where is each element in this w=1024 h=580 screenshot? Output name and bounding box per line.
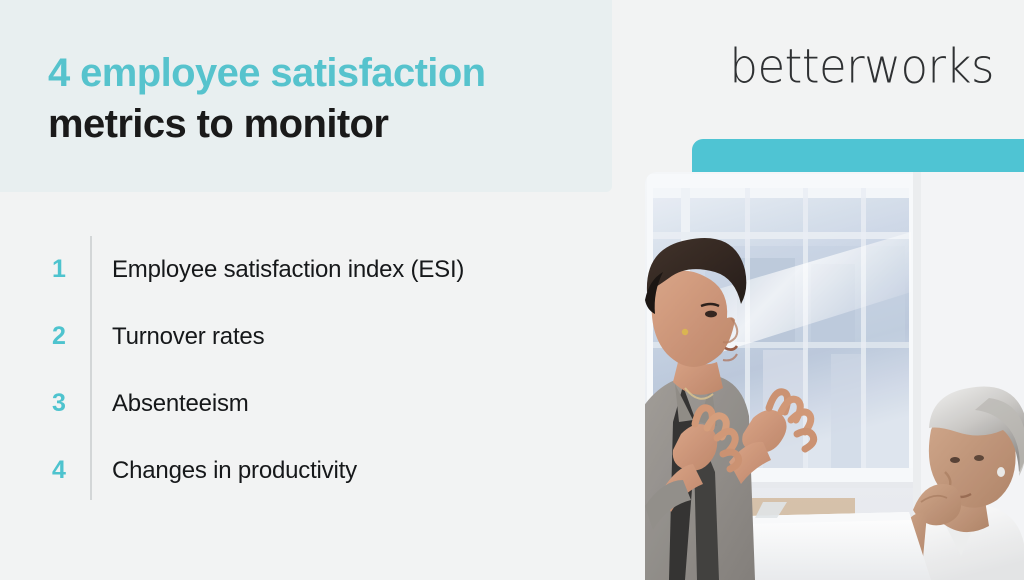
teal-accent-bar — [692, 139, 1024, 172]
slide-canvas: 4 employee satisfaction metrics to monit… — [0, 0, 1024, 580]
list-item: 3 Absenteeism — [40, 370, 600, 437]
metrics-list: 1 Employee satisfaction index (ESI) 2 Tu… — [40, 236, 600, 504]
list-item: 4 Changes in productivity — [40, 437, 600, 504]
list-item-label: Employee satisfaction index (ESI) — [90, 256, 464, 284]
page-title: 4 employee satisfaction metrics to monit… — [48, 48, 588, 150]
list-item: 2 Turnover rates — [40, 303, 600, 370]
list-item-number: 1 — [40, 255, 90, 284]
title-panel: 4 employee satisfaction metrics to monit… — [0, 0, 612, 192]
title-line-2: metrics to monitor — [48, 99, 588, 150]
list-item-number: 4 — [40, 456, 90, 485]
list-item-label: Changes in productivity — [90, 457, 357, 485]
title-line-1: 4 employee satisfaction — [48, 48, 588, 99]
photo-illustration — [645, 172, 1024, 580]
list-item-label: Absenteeism — [90, 390, 249, 418]
office-conversation-photo — [645, 172, 1024, 580]
betterworks-logo: betterworks — [729, 40, 994, 94]
list-item: 1 Employee satisfaction index (ESI) — [40, 236, 600, 303]
list-item-label: Turnover rates — [90, 323, 264, 351]
list-item-number: 2 — [40, 322, 90, 351]
list-item-number: 3 — [40, 389, 90, 418]
